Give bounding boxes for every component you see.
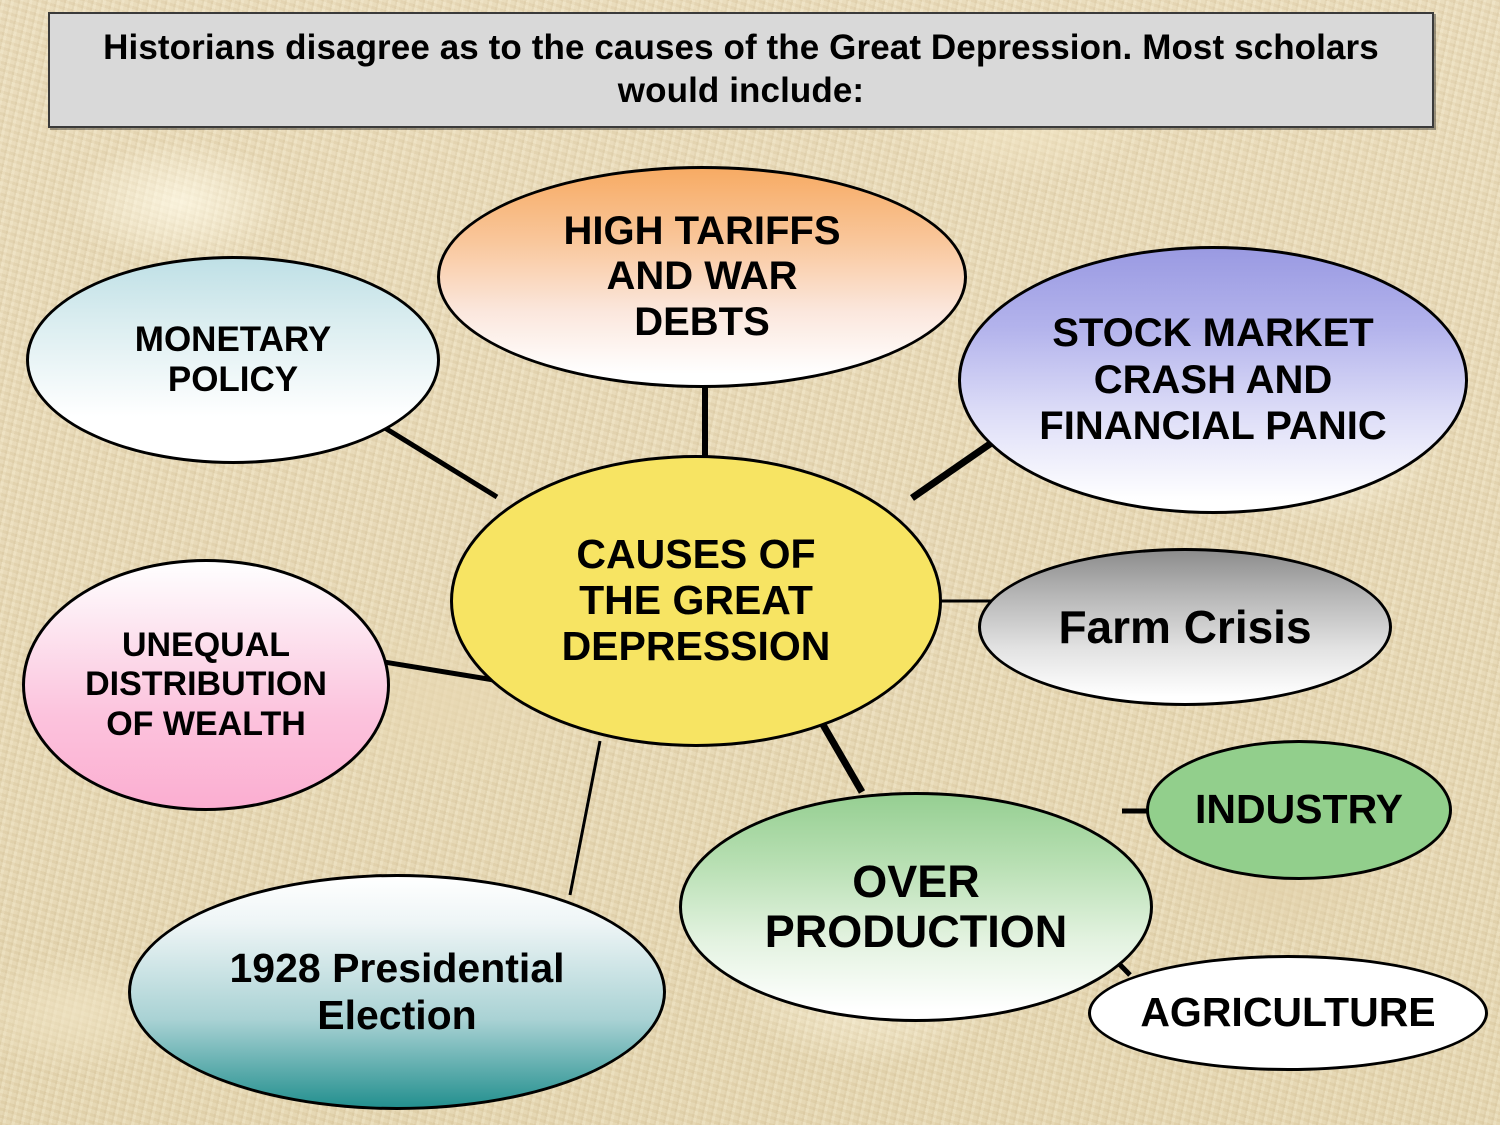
node-industry[interactable]: INDUSTRY [1146,740,1452,880]
node-label-industry: INDUSTRY [1195,789,1403,831]
node-label-farm-crisis: Farm Crisis [1058,604,1311,651]
connector-center-to-election [570,741,600,895]
node-stock-market-crash[interactable]: STOCK MARKETCRASH ANDFINANCIAL PANIC [958,246,1468,514]
connector-center-to-stock [912,437,1000,498]
node-1928-presidential-election[interactable]: 1928 PresidentialElection [128,874,666,1110]
node-label-center: CAUSES OFTHE GREATDEPRESSION [562,532,831,670]
node-label-agriculture: AGRICULTURE [1140,992,1435,1034]
node-label-high-tariffs: HIGH TARIFFSAND WARDEBTS [563,209,840,346]
node-over-production[interactable]: OVERPRODUCTION [679,792,1153,1022]
connector-center-to-overprod [822,723,862,792]
node-causes-of-the-great-depression[interactable]: CAUSES OFTHE GREATDEPRESSION [450,455,942,747]
node-high-tariffs-and-war-debts[interactable]: HIGH TARIFFSAND WARDEBTS [437,166,967,388]
node-label-monetary-policy: MONETARYPOLICY [135,320,331,401]
node-agriculture[interactable]: AGRICULTURE [1088,955,1488,1071]
node-label-unequal-distribution: UNEQUALDISTRIBUTIONOF WEALTH [85,626,327,744]
node-unequal-distribution-of-wealth[interactable]: UNEQUALDISTRIBUTIONOF WEALTH [22,559,390,811]
node-farm-crisis[interactable]: Farm Crisis [978,548,1392,706]
connector-center-to-monetary [385,428,497,497]
node-label-over-production: OVERPRODUCTION [765,857,1068,958]
node-label-stock-market-crash: STOCK MARKETCRASH ANDFINANCIAL PANIC [1039,310,1386,449]
slide-canvas: Historians disagree as to the causes of … [0,0,1500,1125]
node-monetary-policy[interactable]: MONETARYPOLICY [26,256,440,464]
node-label-presidential-election: 1928 PresidentialElection [229,945,564,1038]
